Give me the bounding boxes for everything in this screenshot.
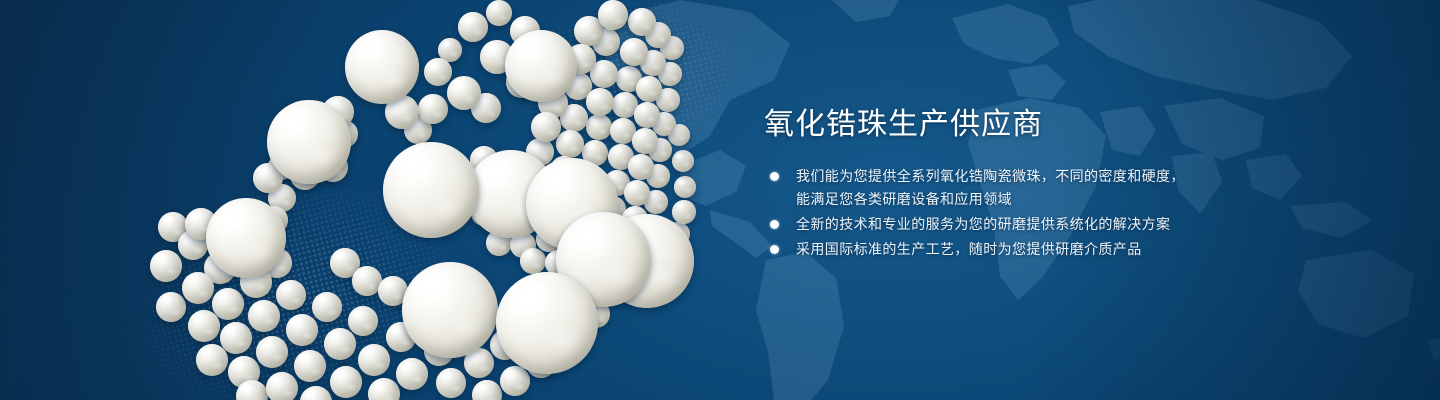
list-item: 采用国际标准的生产工艺，随时为您提供研磨介质产品 [764, 238, 1284, 261]
bullet-dot-icon [770, 220, 779, 229]
bullet-dot-icon [770, 172, 779, 181]
list-item-line-2: 能满足您各类研磨设备和应用领域 [796, 188, 1284, 211]
list-item-line-1: 采用国际标准的生产工艺，随时为您提供研磨介质产品 [796, 241, 1142, 257]
list-item-line-1: 全新的技术和专业的服务为您的研磨提供系统化的解决方案 [796, 216, 1170, 232]
list-item: 全新的技术和专业的服务为您的研磨提供系统化的解决方案 [764, 213, 1284, 236]
page-title: 氧化锆珠生产供应商 [764, 106, 1284, 143]
hero-banner: 氧化锆珠生产供应商 我们能为您提供全系列氧化锆陶瓷微珠，不同的密度和硬度， 能满… [0, 0, 1440, 400]
banner-text-block: 氧化锆珠生产供应商 我们能为您提供全系列氧化锆陶瓷微珠，不同的密度和硬度， 能满… [764, 106, 1284, 263]
feature-list: 我们能为您提供全系列氧化锆陶瓷微珠，不同的密度和硬度， 能满足您各类研磨设备和应… [764, 165, 1284, 261]
bullet-dot-icon [770, 245, 779, 254]
list-item-line-1: 我们能为您提供全系列氧化锆陶瓷微珠，不同的密度和硬度， [796, 168, 1185, 184]
list-item: 我们能为您提供全系列氧化锆陶瓷微珠，不同的密度和硬度， 能满足您各类研磨设备和应… [764, 165, 1284, 211]
